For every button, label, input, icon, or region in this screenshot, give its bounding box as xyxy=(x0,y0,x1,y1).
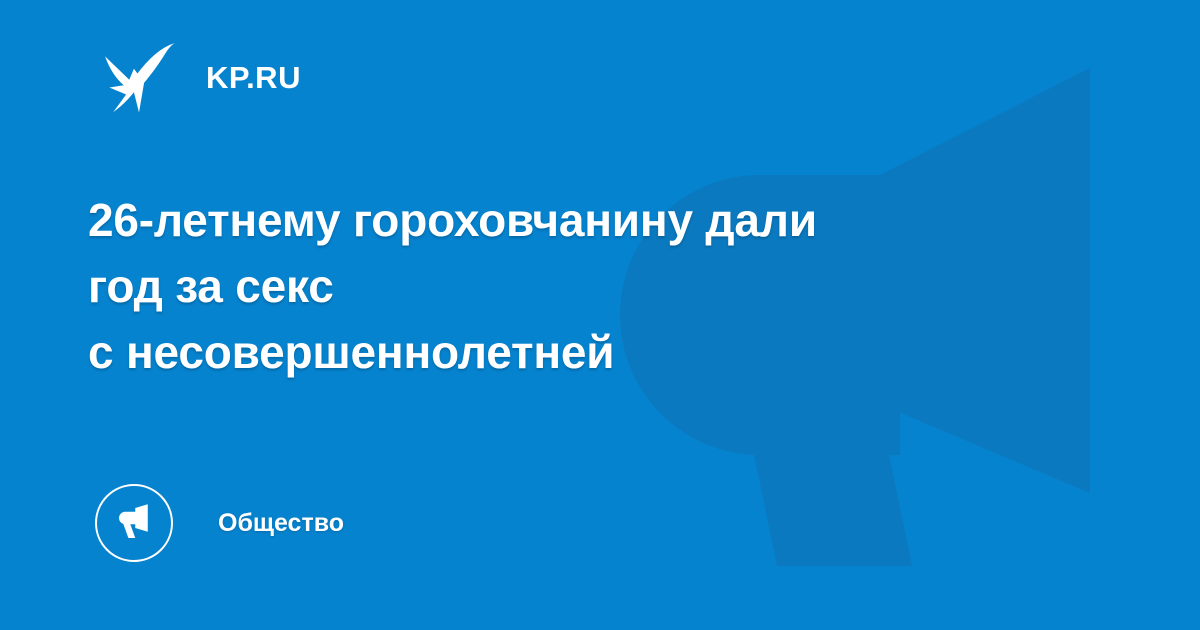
headline-line-1: 26-летнему гороховчанину дали xyxy=(88,187,1078,253)
swallow-bird-icon xyxy=(100,38,178,116)
logo-wordmark: KP.RU xyxy=(206,62,301,93)
site-logo[interactable]: KP.RU xyxy=(100,36,301,118)
social-share-card: KP.RU 26-летнему гороховчанину дали год … xyxy=(0,0,1200,630)
headline-line-3: с несовершеннолетней xyxy=(88,319,1078,385)
megaphone-icon xyxy=(114,503,154,543)
category-label: Общество xyxy=(218,511,344,536)
page-title: 26-летнему гороховчанину дали год за сек… xyxy=(88,187,1078,385)
category-badge[interactable]: Общество xyxy=(95,484,344,562)
category-icon-circle xyxy=(95,484,173,562)
headline-line-2: год за секс xyxy=(88,253,1078,319)
